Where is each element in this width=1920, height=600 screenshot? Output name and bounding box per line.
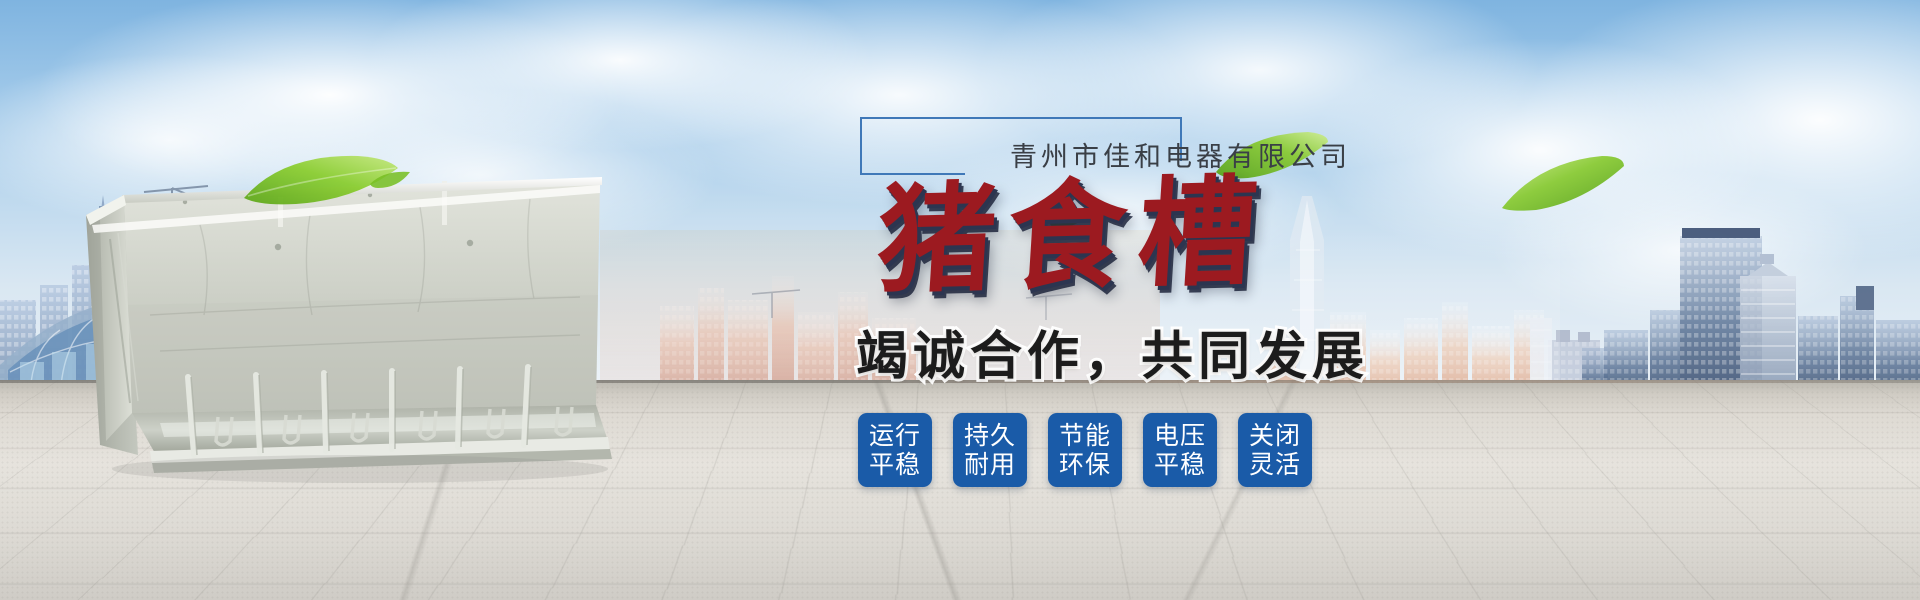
badge-flexible-closing: 关闭 灵活 — [1238, 413, 1312, 487]
badge-line-2: 平稳 — [1154, 450, 1206, 480]
promotional-banner: 青州市佳和电器有限公司 猪食槽 竭诚合作，共同发展 运行 平稳 持久 耐用 节能… — [0, 0, 1920, 600]
badge-energy-saving: 节能 环保 — [1048, 413, 1122, 487]
page-subtitle: 竭诚合作，共同发展 — [856, 331, 1369, 383]
badge-line-1: 电压 — [1154, 421, 1206, 451]
badge-line-2: 灵活 — [1249, 450, 1301, 480]
badge-line-1: 运行 — [869, 421, 921, 451]
page-title: 猪食槽 — [874, 172, 1272, 299]
badge-line-2: 耐用 — [964, 450, 1016, 480]
product-image-pig-feeding-trough — [60, 155, 620, 495]
badge-line-1: 节能 — [1059, 421, 1111, 451]
badge-line-2: 环保 — [1059, 450, 1111, 480]
badge-line-2: 平稳 — [869, 450, 921, 480]
badge-line-1: 关闭 — [1249, 421, 1301, 451]
badge-durable: 持久 耐用 — [953, 413, 1027, 487]
banner-text-block: 青州市佳和电器有限公司 猪食槽 竭诚合作，共同发展 运行 平稳 持久 耐用 节能… — [760, 95, 1480, 555]
badge-smooth-operation: 运行 平稳 — [858, 413, 932, 487]
badge-stable-voltage: 电压 平稳 — [1143, 413, 1217, 487]
badge-line-1: 持久 — [964, 421, 1016, 451]
feature-badge-list: 运行 平稳 持久 耐用 节能 环保 电压 平稳 关闭 灵活 — [858, 413, 1312, 487]
